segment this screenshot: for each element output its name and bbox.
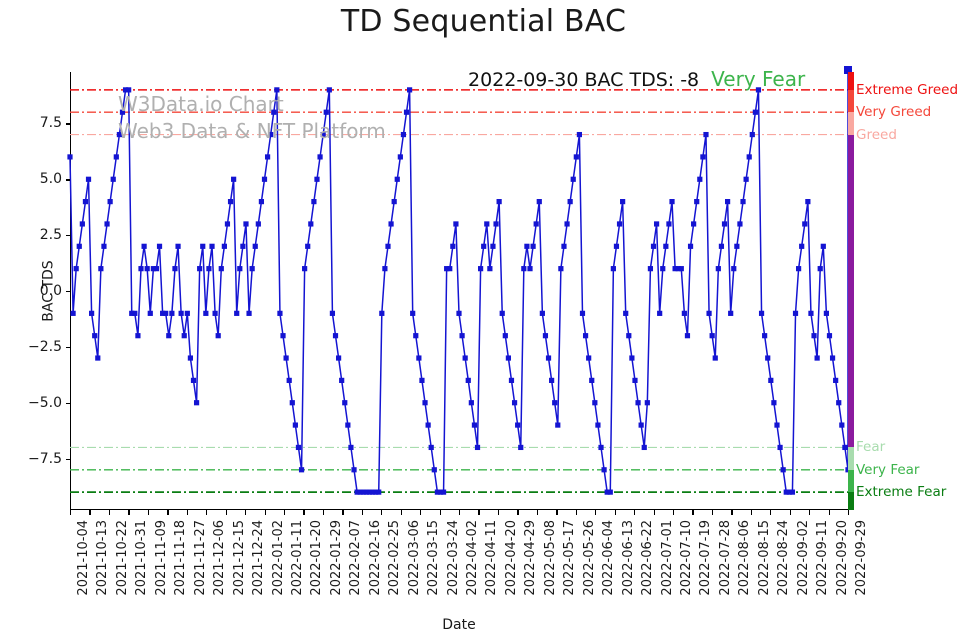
data-point (225, 221, 230, 226)
data-point (385, 244, 390, 249)
data-point (324, 110, 329, 115)
data-point (475, 445, 480, 450)
data-point (169, 311, 174, 316)
data-point (157, 244, 162, 249)
data-point (104, 221, 109, 226)
data-point (574, 154, 579, 159)
data-point (441, 490, 446, 495)
data-point (694, 199, 699, 204)
x-tick-mark (206, 510, 207, 515)
data-point (317, 154, 322, 159)
x-tick-mark (770, 510, 771, 515)
data-point (330, 311, 335, 316)
colorbar-segment (848, 447, 854, 469)
data-point (392, 199, 397, 204)
x-tick-label: 2021-11-18 (173, 520, 188, 596)
data-point (419, 378, 424, 383)
data-point (697, 177, 702, 182)
data-point (450, 244, 455, 249)
data-point (762, 333, 767, 338)
x-tick-label: 2022-03-15 (426, 520, 441, 596)
x-tick-label: 2022-06-22 (640, 520, 655, 596)
data-point (487, 266, 492, 271)
data-point (398, 154, 403, 159)
x-tick-label: 2022-01-20 (309, 520, 324, 596)
data-point (549, 378, 554, 383)
x-tick-label: 2022-01-29 (329, 520, 344, 596)
x-tick-mark (265, 510, 266, 515)
data-point (67, 154, 72, 159)
data-point (345, 422, 350, 427)
data-point (469, 400, 474, 405)
data-point (265, 154, 270, 159)
x-tick-mark (848, 510, 849, 515)
x-tick-label: 2022-07-10 (679, 520, 694, 596)
data-point (299, 467, 304, 472)
data-point (166, 333, 171, 338)
x-tick-mark (109, 510, 110, 515)
x-tick-label: 2022-05-17 (562, 520, 577, 596)
data-point (117, 132, 122, 137)
data-point (602, 467, 607, 472)
data-point (623, 311, 628, 316)
data-point (657, 311, 662, 316)
data-point (626, 333, 631, 338)
data-point (824, 311, 829, 316)
x-tick-label: 2022-02-07 (348, 520, 363, 596)
data-point (429, 445, 434, 450)
data-point (231, 177, 236, 182)
y-tick-label: −7.5 (2, 451, 62, 467)
current-value-annotation: 2022-09-30 BAC TDS: -8Very Fear (468, 67, 805, 91)
data-point (490, 244, 495, 249)
x-tick-label: 2022-04-11 (484, 520, 499, 596)
x-tick-label: 2022-08-24 (776, 520, 791, 596)
data-point (126, 87, 131, 92)
y-tick-label: −2.5 (2, 339, 62, 355)
data-point (497, 199, 502, 204)
x-tick-mark (692, 510, 693, 515)
data-point (543, 333, 548, 338)
data-point (395, 177, 400, 182)
x-tick-mark (673, 510, 674, 515)
data-point (185, 311, 190, 316)
data-point (311, 199, 316, 204)
data-point (253, 244, 258, 249)
colorbar-segment (848, 72, 854, 90)
data-point (518, 445, 523, 450)
sentiment-colorbar (848, 72, 854, 510)
data-point (120, 110, 125, 115)
data-point (80, 221, 85, 226)
x-tick-label: 2022-09-29 (854, 520, 869, 596)
x-tick-mark (245, 510, 246, 515)
x-tick-mark (167, 510, 168, 515)
data-point (830, 355, 835, 360)
data-point (145, 266, 150, 271)
data-point (713, 355, 718, 360)
data-point (753, 110, 758, 115)
data-point (682, 311, 687, 316)
data-point (722, 221, 727, 226)
data-point (89, 311, 94, 316)
x-tick-mark (556, 510, 557, 515)
x-tick-label: 2022-08-15 (757, 520, 772, 596)
y-tick-label: 2.5 (2, 227, 62, 243)
data-point (796, 266, 801, 271)
x-tick-mark (342, 510, 343, 515)
data-point (388, 221, 393, 226)
data-point (262, 177, 267, 182)
data-point (568, 199, 573, 204)
y-tick-label: 7.5 (2, 115, 62, 131)
data-point (194, 400, 199, 405)
x-tick-mark (187, 510, 188, 515)
data-point (744, 177, 749, 182)
data-point (175, 244, 180, 249)
data-point (642, 445, 647, 450)
data-point (500, 311, 505, 316)
data-point (509, 378, 514, 383)
x-tick-mark (420, 510, 421, 515)
data-point (629, 355, 634, 360)
x-tick-mark (89, 510, 90, 515)
x-tick-mark (654, 510, 655, 515)
data-point (555, 422, 560, 427)
data-point (339, 378, 344, 383)
data-point (484, 221, 489, 226)
data-point (589, 378, 594, 383)
x-tick-mark (362, 510, 363, 515)
x-tick-label: 2021-10-22 (115, 520, 130, 596)
colorbar-segment (848, 135, 854, 448)
data-point (546, 355, 551, 360)
data-point (209, 244, 214, 249)
data-point (811, 333, 816, 338)
data-point (256, 221, 261, 226)
data-point (747, 154, 752, 159)
data-point (611, 266, 616, 271)
data-point (552, 400, 557, 405)
data-point (213, 311, 218, 316)
data-point (663, 244, 668, 249)
x-tick-label: 2022-09-11 (815, 520, 830, 596)
data-point (534, 221, 539, 226)
data-point (759, 311, 764, 316)
x-tick-label: 2022-01-11 (290, 520, 305, 596)
data-point (274, 87, 279, 92)
data-point (135, 333, 140, 338)
data-point (259, 199, 264, 204)
data-series-line (70, 90, 848, 492)
colorbar-segment (848, 90, 854, 112)
data-point (404, 110, 409, 115)
data-point (86, 177, 91, 182)
x-tick-label: 2021-12-06 (212, 520, 227, 596)
data-point (376, 490, 381, 495)
x-tick-mark (517, 510, 518, 515)
data-point (651, 244, 656, 249)
data-point (280, 333, 285, 338)
annotation-text: 2022-09-30 BAC TDS: -8 (468, 69, 699, 91)
data-point (737, 221, 742, 226)
data-point (206, 266, 211, 271)
data-point (95, 355, 100, 360)
x-tick-label: 2021-12-15 (232, 520, 247, 596)
x-tick-mark (459, 510, 460, 515)
x-tick-label: 2022-04-02 (465, 520, 480, 596)
data-point (793, 311, 798, 316)
x-tick-label: 2021-11-27 (193, 520, 208, 596)
x-tick-mark (323, 510, 324, 515)
data-point (842, 445, 847, 450)
y-tick-label: −5.0 (2, 395, 62, 411)
data-point (290, 400, 295, 405)
data-point (740, 199, 745, 204)
data-point (648, 266, 653, 271)
data-point (691, 221, 696, 226)
x-tick-label: 2022-06-13 (621, 520, 636, 596)
data-point (277, 311, 282, 316)
data-point (598, 445, 603, 450)
data-point (114, 154, 119, 159)
x-tick-label: 2022-07-19 (698, 520, 713, 596)
x-tick-mark (615, 510, 616, 515)
y-tick-label: 0.0 (2, 283, 62, 299)
data-point (774, 422, 779, 427)
x-tick-label: 2022-02-25 (387, 520, 402, 596)
x-tick-label: 2021-10-04 (76, 520, 91, 596)
data-point (580, 311, 585, 316)
threshold-label-very-fear: Very Fear (856, 462, 919, 478)
x-tick-mark (712, 510, 713, 515)
x-tick-label: 2022-06-04 (601, 520, 616, 596)
data-point (111, 177, 116, 182)
data-point (802, 221, 807, 226)
data-point (818, 266, 823, 271)
data-point (521, 266, 526, 271)
x-tick-mark (381, 510, 382, 515)
x-tick-mark (537, 510, 538, 515)
data-point (564, 221, 569, 226)
data-point (108, 199, 113, 204)
data-point (222, 244, 227, 249)
x-tick-mark (440, 510, 441, 515)
data-point (74, 266, 79, 271)
y-tick-mark (66, 347, 71, 348)
data-point (216, 333, 221, 338)
x-tick-mark (829, 510, 830, 515)
data-point (250, 266, 255, 271)
data-point (422, 400, 427, 405)
colorbar-segment (848, 112, 854, 134)
data-point (731, 266, 736, 271)
data-point (296, 445, 301, 450)
data-point (478, 266, 483, 271)
data-point (336, 355, 341, 360)
data-point (685, 333, 690, 338)
chart-canvas (70, 72, 848, 510)
data-point (781, 467, 786, 472)
y-tick-mark (66, 123, 71, 124)
x-tick-label: 2022-03-06 (407, 520, 422, 596)
data-point (777, 445, 782, 450)
data-point (734, 244, 739, 249)
threshold-label-greed: Greed (856, 127, 897, 143)
data-point (348, 445, 353, 450)
data-point (719, 244, 724, 249)
data-point (453, 221, 458, 226)
x-axis-label: Date (70, 617, 848, 633)
x-tick-label: 2022-08-06 (737, 520, 752, 596)
data-point (142, 244, 147, 249)
data-point (614, 244, 619, 249)
x-tick-label: 2022-07-28 (718, 520, 733, 596)
x-tick-mark (751, 510, 752, 515)
data-point (302, 266, 307, 271)
data-point (654, 221, 659, 226)
x-tick-label: 2021-11-09 (154, 520, 169, 596)
data-point (827, 333, 832, 338)
data-point (459, 333, 464, 338)
data-point (592, 400, 597, 405)
data-point (203, 311, 208, 316)
y-tick-label: 5.0 (2, 171, 62, 187)
data-point (571, 177, 576, 182)
x-tick-label: 2022-09-20 (835, 520, 850, 596)
x-tick-label: 2022-04-29 (523, 520, 538, 596)
data-point (503, 333, 508, 338)
x-tick-label: 2021-12-24 (251, 520, 266, 596)
x-tick-label: 2022-01-02 (271, 520, 286, 596)
data-point (632, 378, 637, 383)
threshold-label-extreme-fear: Extreme Fear (856, 484, 946, 500)
data-point (790, 490, 795, 495)
data-point (515, 422, 520, 427)
x-tick-mark (634, 510, 635, 515)
x-tick-label: 2022-03-24 (446, 520, 461, 596)
data-point (182, 333, 187, 338)
series-line (70, 90, 848, 492)
y-tick-mark (66, 291, 71, 292)
data-point (679, 266, 684, 271)
x-tick-mark (226, 510, 227, 515)
data-point (240, 244, 245, 249)
x-tick-label: 2022-05-08 (543, 520, 558, 596)
data-point (333, 333, 338, 338)
data-point (246, 311, 251, 316)
data-point (284, 355, 289, 360)
data-point (716, 266, 721, 271)
data-point (305, 244, 310, 249)
data-point (314, 177, 319, 182)
colorbar-segment (848, 492, 854, 510)
data-point (700, 154, 705, 159)
data-point (228, 199, 233, 204)
x-tick-mark (128, 510, 129, 515)
data-point (620, 199, 625, 204)
data-point (432, 467, 437, 472)
data-point (512, 400, 517, 405)
data-point (200, 244, 205, 249)
x-tick-mark (498, 510, 499, 515)
data-point (237, 266, 242, 271)
data-point (243, 221, 248, 226)
data-point (163, 311, 168, 316)
data-point (379, 311, 384, 316)
data-point (706, 311, 711, 316)
data-point (577, 132, 582, 137)
data-point (172, 266, 177, 271)
data-point (351, 467, 356, 472)
data-point (456, 311, 461, 316)
x-tick-mark (284, 510, 285, 515)
y-tick-mark (66, 459, 71, 460)
data-point (268, 132, 273, 137)
x-tick-label: 2021-10-13 (95, 520, 110, 596)
data-point (493, 221, 498, 226)
data-point (447, 266, 452, 271)
data-point (537, 199, 542, 204)
x-tick-label: 2022-02-16 (368, 520, 383, 596)
data-point (426, 422, 431, 427)
x-tick-label: 2022-09-02 (796, 520, 811, 596)
x-tick-mark (478, 510, 479, 515)
data-point (771, 400, 776, 405)
data-point (407, 87, 412, 92)
threshold-label-very-greed: Very Greed (856, 104, 931, 120)
data-point (799, 244, 804, 249)
data-point (635, 400, 640, 405)
data-point (583, 333, 588, 338)
colorbar-segment (848, 470, 854, 492)
data-point (148, 311, 153, 316)
data-point (808, 311, 813, 316)
data-point (413, 333, 418, 338)
data-point (833, 378, 838, 383)
data-point (188, 355, 193, 360)
data-point (660, 266, 665, 271)
data-point (271, 110, 276, 115)
data-point (481, 244, 486, 249)
data-point (666, 221, 671, 226)
data-point (472, 422, 477, 427)
data-point (191, 378, 196, 383)
data-point (410, 311, 415, 316)
data-point (608, 490, 613, 495)
data-point (839, 422, 844, 427)
data-point (506, 355, 511, 360)
data-point (197, 266, 202, 271)
chart-page: TD Sequential BAC W3Data.io Chart Web3 D… (0, 0, 967, 633)
data-point (728, 311, 733, 316)
data-point (179, 311, 184, 316)
data-point (321, 132, 326, 137)
y-tick-mark (66, 403, 71, 404)
y-tick-mark (66, 235, 71, 236)
x-tick-mark (790, 510, 791, 515)
data-point (70, 311, 75, 316)
data-point (617, 221, 622, 226)
x-tick-mark (303, 510, 304, 515)
y-tick-mark (66, 179, 71, 180)
data-point (327, 87, 332, 92)
data-point (132, 311, 137, 316)
x-tick-mark (576, 510, 577, 515)
data-point (83, 199, 88, 204)
data-point (688, 244, 693, 249)
data-point (540, 311, 545, 316)
